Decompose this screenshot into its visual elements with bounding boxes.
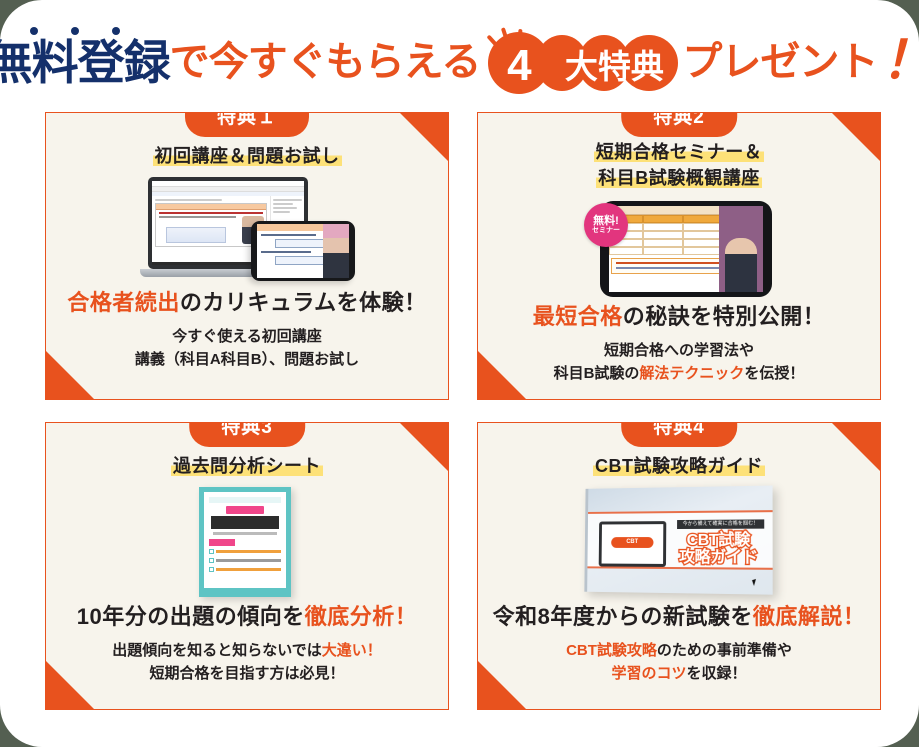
card-headline-1: 合格者続出のカリキュラムを体験！ <box>67 285 426 317</box>
emphasis-dots <box>0 27 120 35</box>
card-badge-1: 特典１ <box>185 112 309 137</box>
benefits-grid: 特典１ 初回講座＆問題お試し <box>0 104 919 710</box>
card-art-booklet <box>199 487 295 599</box>
guide-cover: CBT 今から備えて確実に合格を掴む！ CBT試験 攻略ガイド <box>584 486 772 595</box>
guide-title: CBT試験 攻略ガイド <box>673 533 764 568</box>
sparkle-icon <box>494 20 528 50</box>
benefit-card-2[interactable]: 特典2 短期合格セミナー＆ 科目B試験概観講座 無料! セミナー <box>477 112 881 400</box>
benefit-card-4[interactable]: 特典4 CBT試験攻略ガイド CBT <box>477 422 881 710</box>
card-subtext-4: CBT試験攻略のための事前準備や 学習のコツを収録！ <box>566 639 792 686</box>
guide-tagline: 今から備えて確実に合格を掴む！ <box>677 519 764 529</box>
badge-label: 大特典 <box>550 39 678 95</box>
free-seminar-badge: 無料! セミナー <box>584 203 628 247</box>
promo-page: 無料登録 で今すぐもらえる 4 大特典 プレゼント ！ 特典１ 初回講座＆問題お… <box>0 0 919 747</box>
benefit-card-1[interactable]: 特典１ 初回講座＆問題お試し <box>45 112 449 400</box>
cursor-icon <box>752 578 761 586</box>
header-present-text: プレゼント <box>682 30 877 82</box>
card-headline-2: 最短合格の秘訣を特別公開！ <box>533 299 826 331</box>
card-art-seminar-phone: 無料! セミナー <box>584 199 774 299</box>
card-headline-4: 令和8年度からの新試験を徹底解説！ <box>493 599 866 631</box>
header-navy-text: 無料登録 <box>0 27 170 86</box>
laptop-illustration: CBT <box>599 521 667 567</box>
card-badge-2: 特典2 <box>621 112 737 137</box>
card-title-2: 短期合格セミナー＆ 科目B試験概観講座 <box>594 139 765 191</box>
card-title-4: CBT試験攻略ガイド <box>593 453 765 479</box>
card-title-1: 初回講座＆問題お試し <box>153 143 342 169</box>
header-orange-text: で今すぐもらえる <box>170 30 481 82</box>
four-benefits-badge: 4 大特典 <box>488 24 678 88</box>
card-subtext-3: 出題傾向を知ると知らないでは大違い！ 短期合格を目指す方は必見！ <box>112 639 382 686</box>
page-header: 無料登録 で今すぐもらえる 4 大特典 プレゼント ！ <box>0 0 919 104</box>
card-title-3: 過去問分析シート <box>171 453 323 479</box>
booklet-cover <box>199 487 291 597</box>
card-badge-4: 特典4 <box>621 422 737 447</box>
header-exclamation: ！ <box>881 25 919 87</box>
benefit-card-3[interactable]: 特典3 過去問分析シート <box>45 422 449 710</box>
phone-device <box>251 221 355 281</box>
card-subtext-1: 今すぐ使える初回講座 講義（科目A科目B）、問題お試し <box>135 325 359 372</box>
card-art-laptop-phone <box>140 177 355 285</box>
card-subtext-2: 短期合格への学習法や 科目B試験の解法テクニックを伝授！ <box>554 339 805 386</box>
card-badge-3: 特典3 <box>189 422 305 447</box>
card-art-guide-cover: CBT 今から備えて確実に合格を掴む！ CBT試験 攻略ガイド <box>581 487 777 599</box>
card-headline-3: 10年分の出題の傾向を徹底分析！ <box>77 599 418 631</box>
cbt-button-graphic: CBT <box>611 537 653 548</box>
